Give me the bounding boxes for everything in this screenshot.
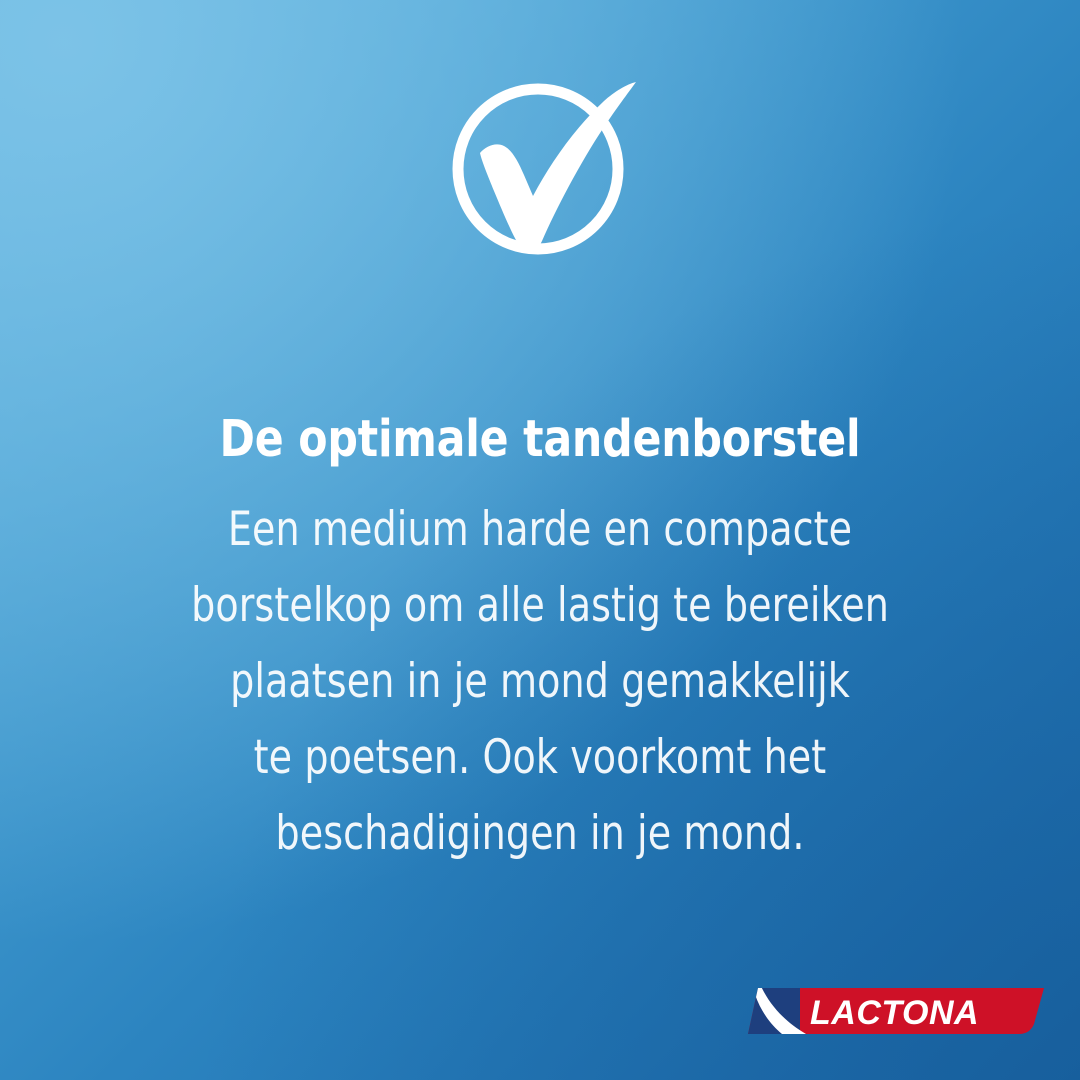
lactona-logo: LACTONA [748,988,1044,1036]
description-line: te poetsen. Ook voorkomt het [135,720,945,796]
promo-card: De optimale tandenborstel Een medium har… [0,0,1080,1080]
description-text: Een medium harde en compacte borstelkop … [90,492,990,872]
page-title: De optimale tandenborstel [38,412,1042,468]
checkmark-in-circle-icon [438,60,648,275]
description-line: beschadigingen in je mond. [135,796,945,872]
logo-wordmark: LACTONA [810,994,979,1032]
description-line: plaatsen in je mond gemakkelijk [135,644,945,720]
description-line: borstelkop om alle lastig te bereiken [135,568,945,644]
description-line: Een medium harde en compacte [135,492,945,568]
